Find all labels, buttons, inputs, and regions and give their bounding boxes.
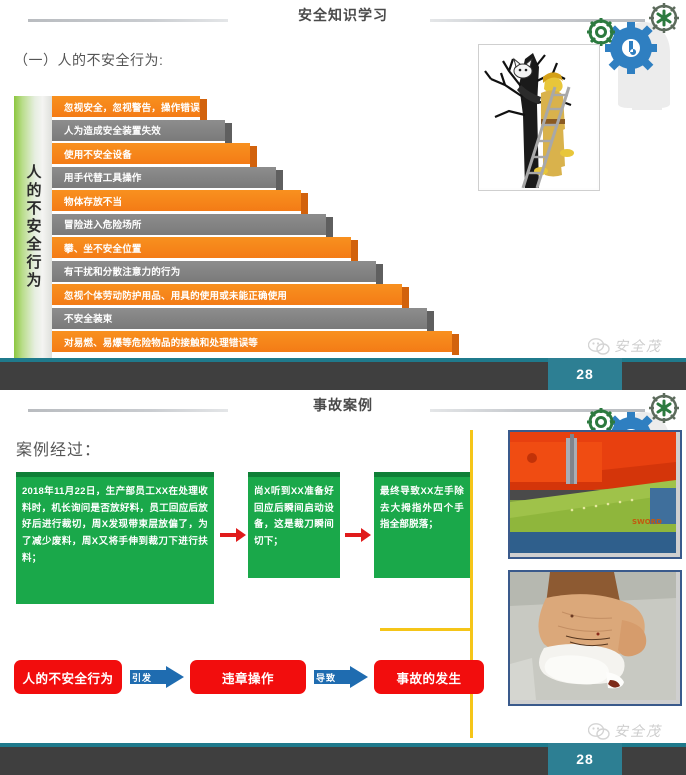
step-label: 人为造成安全装置失效 xyxy=(64,123,161,137)
photo-cutting-machine: SWORD xyxy=(508,430,682,559)
illustration-worker-ladder xyxy=(478,44,600,191)
step-item[interactable]: 使用不安全设备 xyxy=(52,143,250,164)
flow-node-3[interactable]: 事故的发生 xyxy=(374,660,484,694)
step-label: 有干扰和分散注意力的行为 xyxy=(64,264,180,278)
unsafe-behavior-stairs: 人的不安全行为 忽视安全，忽视警告，操作错误人为造成安全装置失效使用不安全设备用… xyxy=(14,96,454,358)
wechat-icon xyxy=(588,337,610,355)
step-list: 忽视安全，忽视警告，操作错误人为造成安全装置失效使用不安全设备用手代替工具操作物… xyxy=(52,96,452,358)
step-item[interactable]: 不安全装束 xyxy=(52,308,427,329)
svg-text:SWORD: SWORD xyxy=(632,518,662,526)
flow-connector-1-label: 引发 xyxy=(132,671,152,684)
step-bar: 忽视个体劳动防护用品、用具的使用或未能正确使用 xyxy=(52,284,402,305)
step-label: 冒险进入危险场所 xyxy=(64,217,142,231)
step-side-face xyxy=(351,240,358,261)
flow-connector-2-label: 导致 xyxy=(316,671,336,684)
photo-injured-hand xyxy=(508,570,682,706)
step-label: 用手代替工具操作 xyxy=(64,170,142,184)
case-box-2-text: 尚X听到XX准备好回应后瞬间启动设备，这是裁刀瞬间切下； xyxy=(254,484,334,551)
step-label: 忽视安全，忽视警告，操作错误 xyxy=(64,100,200,114)
slide1-footer: 28 xyxy=(0,358,686,390)
step-side-face xyxy=(200,99,207,120)
step-bar: 攀、坐不安全位置 xyxy=(52,237,351,258)
step-item[interactable]: 忽视个体劳动防护用品、用具的使用或未能正确使用 xyxy=(52,284,402,305)
step-label: 攀、坐不安全位置 xyxy=(64,241,142,255)
step-bar: 不安全装束 xyxy=(52,308,427,329)
step-item[interactable]: 人为造成安全装置失效 xyxy=(52,120,225,141)
step-item[interactable]: 忽视安全，忽视警告，操作错误 xyxy=(52,96,200,117)
header-rule-right-2 xyxy=(430,409,645,412)
slide-accident-case: 事故案例 xyxy=(0,390,686,775)
section-subtitle: （一）人的不安全行为: xyxy=(14,50,163,70)
arrow-case-1-to-2 xyxy=(220,528,246,542)
watermark-2: 安全茂 xyxy=(588,721,662,741)
case-box-1-text: 2018年11月22日，生产部员工XX在处理收料时，机长询问是否放好料，员工回应… xyxy=(22,484,208,567)
step-side-face xyxy=(376,264,383,285)
divider-horizontal xyxy=(380,628,473,631)
page-number-badge: 28 xyxy=(548,358,622,390)
step-side-face xyxy=(402,287,409,308)
step-item[interactable]: 物体存放不当 xyxy=(52,190,301,211)
step-bar: 有干扰和分散注意力的行为 xyxy=(52,261,376,282)
step-label: 不安全装束 xyxy=(64,311,113,325)
step-bar: 人为造成安全装置失效 xyxy=(52,120,225,141)
step-item[interactable]: 有干扰和分散注意力的行为 xyxy=(52,261,376,282)
step-side-face xyxy=(276,170,283,191)
step-bar: 对易燃、易爆等危险物品的接触和处理错误等 xyxy=(52,331,452,352)
slide-safety-knowledge: 安全知识学习 xyxy=(0,0,686,390)
case-box-2: 尚X听到XX准备好回应后瞬间启动设备，这是裁刀瞬间切下； xyxy=(248,472,340,578)
flow-connector-1: 引发 xyxy=(130,666,184,688)
case-section-title: 案例经过： xyxy=(16,436,101,460)
step-bar: 使用不安全设备 xyxy=(52,143,250,164)
slide2-footer: 28 xyxy=(0,743,686,775)
slide2-header: 事故案例 xyxy=(0,390,686,426)
case-box-1: 2018年11月22日，生产部员工XX在处理收料时，机长询问是否放好料，员工回应… xyxy=(16,472,214,604)
step-side-face xyxy=(427,311,434,332)
step-label: 忽视个体劳动防护用品、用具的使用或未能正确使用 xyxy=(64,288,287,302)
step-side-face xyxy=(301,193,308,214)
case-box-3-text: 最终导致XX左手除去大拇指外四个手指全部脱落； xyxy=(380,484,464,534)
watermark-text-2: 安全茂 xyxy=(614,721,662,741)
page-title-2: 事故案例 xyxy=(0,395,686,415)
step-side-face xyxy=(326,217,333,238)
divider-vertical-top xyxy=(470,430,473,630)
vertical-category-text: 人的不安全行为 xyxy=(26,164,41,290)
slide1-header: 安全知识学习 xyxy=(0,0,686,36)
step-label: 使用不安全设备 xyxy=(64,147,132,161)
causal-flow-chain: 人的不安全行为 引发 违章操作 导致 事故的发生 xyxy=(14,660,474,700)
flow-connector-2: 导致 xyxy=(314,666,368,688)
step-item[interactable]: 冒险进入危险场所 xyxy=(52,214,326,235)
step-item[interactable]: 攀、坐不安全位置 xyxy=(52,237,351,258)
wechat-icon-2 xyxy=(588,722,610,740)
head-neck-shape xyxy=(632,86,662,110)
watermark-text: 安全茂 xyxy=(614,336,662,356)
watermark-1: 安全茂 xyxy=(588,336,662,356)
step-item[interactable]: 用手代替工具操作 xyxy=(52,167,276,188)
page-title: 安全知识学习 xyxy=(0,5,686,25)
step-label: 物体存放不当 xyxy=(64,194,122,208)
step-side-face xyxy=(250,146,257,167)
case-box-3: 最终导致XX左手除去大拇指外四个手指全部脱落； xyxy=(374,472,470,578)
vertical-category-label: 人的不安全行为 xyxy=(14,96,52,358)
step-side-face xyxy=(452,334,459,355)
flow-node-2[interactable]: 违章操作 xyxy=(190,660,306,694)
step-item[interactable]: 对易燃、易爆等危险物品的接触和处理错误等 xyxy=(52,331,452,352)
step-bar: 冒险进入危险场所 xyxy=(52,214,326,235)
step-bar: 忽视安全，忽视警告，操作错误 xyxy=(52,96,200,117)
step-side-face xyxy=(225,123,232,144)
header-rule-right xyxy=(430,19,645,22)
step-label: 对易燃、易爆等危险物品的接触和处理错误等 xyxy=(64,335,258,349)
step-bar: 物体存放不当 xyxy=(52,190,301,211)
arrow-case-2-to-3 xyxy=(345,528,371,542)
flow-node-1[interactable]: 人的不安全行为 xyxy=(14,660,122,694)
step-bar: 用手代替工具操作 xyxy=(52,167,276,188)
slide-deck: 安全知识学习 xyxy=(0,0,686,775)
page-number-badge-2: 28 xyxy=(548,743,622,775)
